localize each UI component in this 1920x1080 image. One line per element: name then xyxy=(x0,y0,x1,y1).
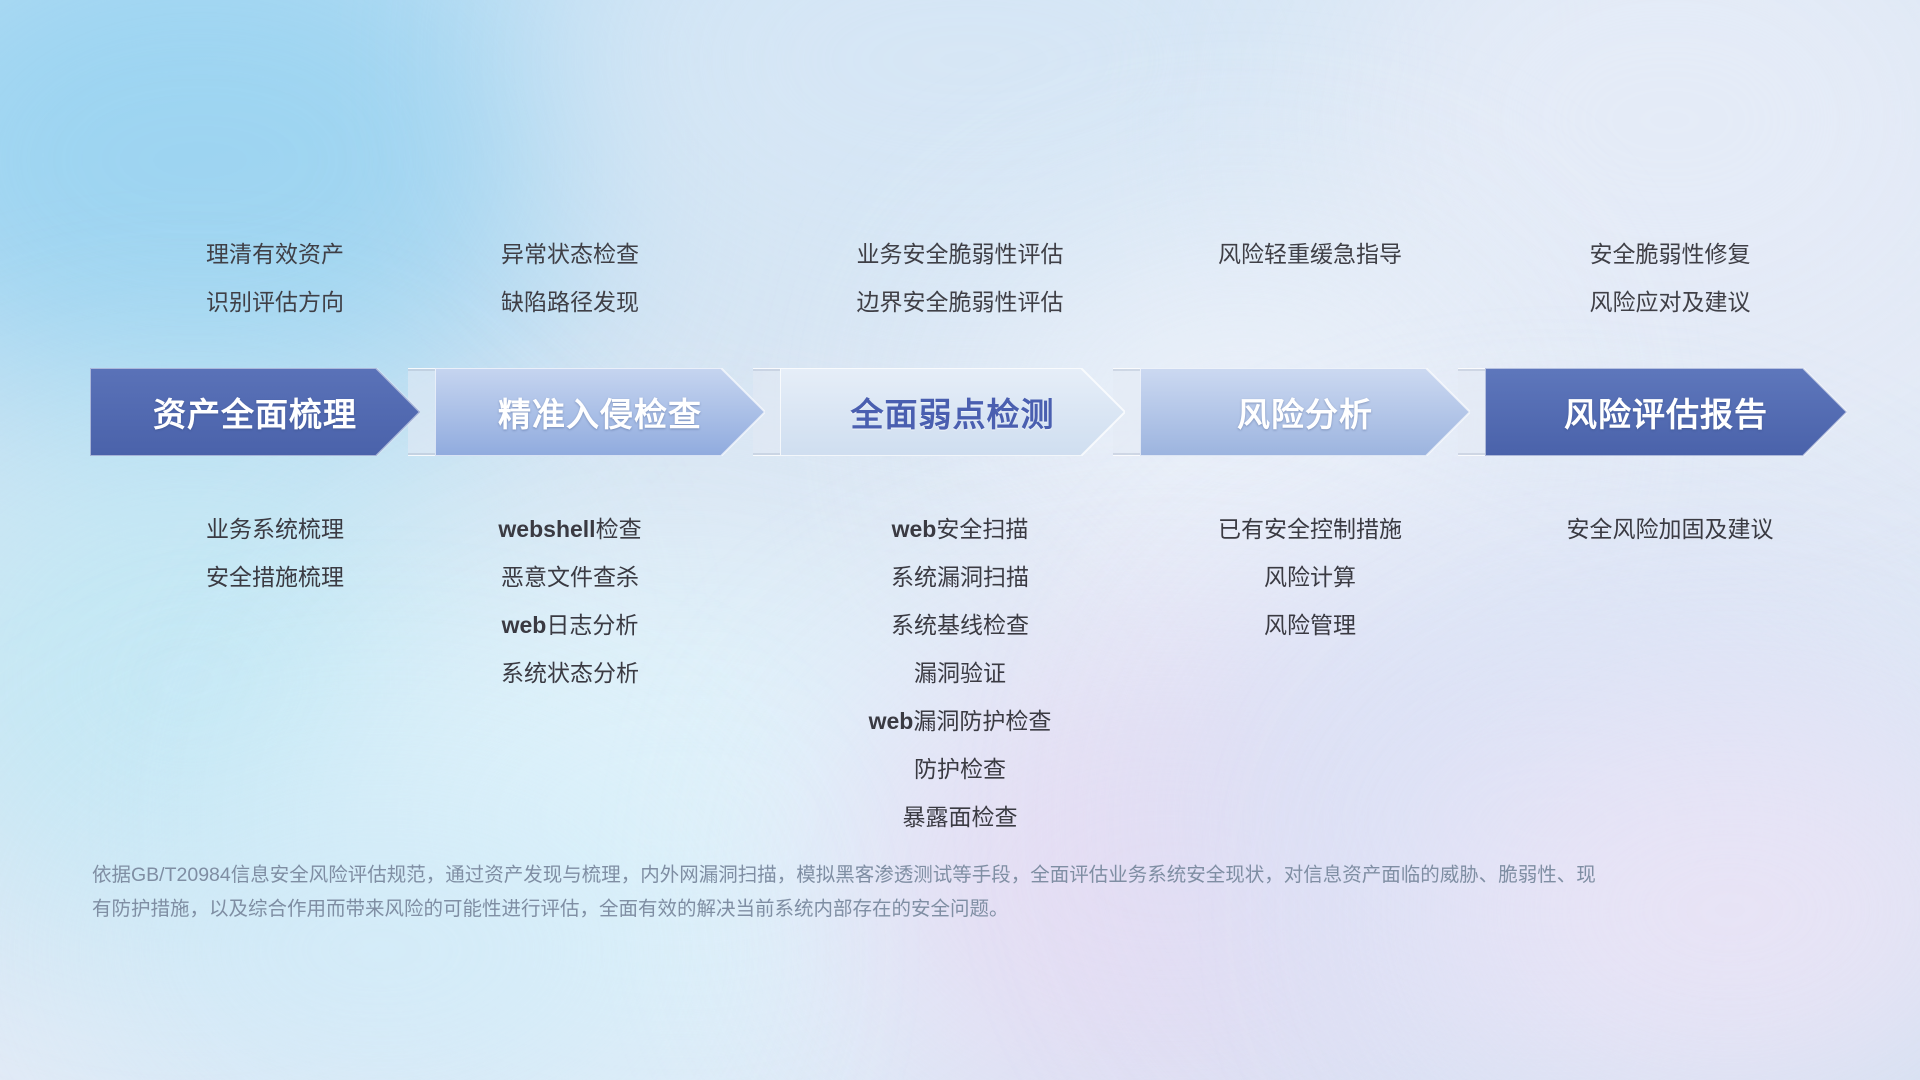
list-item: 系统漏洞扫描 xyxy=(770,553,1150,601)
stage-2-bottom-list: webshell检查 恶意文件查杀 web日志分析 系统状态分析 xyxy=(400,505,740,697)
footer-description: 依据GB/T20984信息安全风险评估规范，通过资产发现与梳理，内外网漏洞扫描，… xyxy=(92,858,1612,926)
list-item: 防护检查 xyxy=(770,745,1150,793)
list-item: 暴露面检查 xyxy=(770,793,1150,841)
stage-4-top-item: 风险轻重缓急指导 xyxy=(1110,230,1510,278)
list-item: 漏洞验证 xyxy=(770,649,1150,697)
stage-3-label: 全面弱点检测 xyxy=(851,388,1055,436)
list-item: 恶意文件查杀 xyxy=(400,553,740,601)
stage-1-label: 资产全面梳理 xyxy=(153,388,357,436)
stage-5-label: 风险评估报告 xyxy=(1564,388,1768,436)
list-item-cn: 安全措施梳理 xyxy=(206,564,344,590)
stage-4-chevron[interactable]: 风险分析 xyxy=(1140,368,1470,456)
list-item-en: webshell xyxy=(498,516,595,542)
stage-2-top-item: 异常状态检查 xyxy=(400,230,740,278)
process-stage-band: 资产全面梳理 精准入侵检查 xyxy=(90,368,1847,456)
list-item-cn: 风险计算 xyxy=(1264,564,1356,590)
list-item-cn: 系统漏洞扫描 xyxy=(891,564,1029,590)
stage-3-top-item: 业务安全脆弱性评估 xyxy=(770,230,1150,278)
list-item-cn: 检查 xyxy=(596,516,642,542)
stage-4-label: 风险分析 xyxy=(1237,388,1373,436)
list-item-cn: 业务系统梳理 xyxy=(206,516,344,542)
stage-5-top-item: 安全脆弱性修复 xyxy=(1480,230,1860,278)
list-item: 系统状态分析 xyxy=(400,649,740,697)
list-item-cn: 系统基线检查 xyxy=(891,612,1029,638)
list-item-cn: 日志分析 xyxy=(546,612,638,638)
list-item-en: web xyxy=(892,516,937,542)
list-item-cn: 安全风险加固及建议 xyxy=(1567,516,1774,542)
list-item: 系统基线检查 xyxy=(770,601,1150,649)
list-item: webshell检查 xyxy=(400,505,740,553)
list-item-cn: 已有安全控制措施 xyxy=(1218,516,1402,542)
list-item-cn: 漏洞防护检查 xyxy=(913,708,1051,734)
list-item-en: web xyxy=(502,612,547,638)
list-item-cn: 暴露面检查 xyxy=(903,804,1018,830)
list-item-cn: 恶意文件查杀 xyxy=(501,564,639,590)
stage-4-top-list: 风险轻重缓急指导 xyxy=(1110,230,1510,278)
list-item: web日志分析 xyxy=(400,601,740,649)
list-item-cn: 系统状态分析 xyxy=(501,660,639,686)
list-item-cn: 漏洞验证 xyxy=(914,660,1006,686)
list-item: web安全扫描 xyxy=(770,505,1150,553)
list-item: 安全风险加固及建议 xyxy=(1470,505,1870,553)
list-item-cn: 风险管理 xyxy=(1264,612,1356,638)
stage-3-chevron[interactable]: 全面弱点检测 xyxy=(780,368,1125,456)
stage-2-top-item: 缺陷路径发现 xyxy=(400,278,740,326)
stage-5-bottom-list: 安全风险加固及建议 xyxy=(1470,505,1870,553)
stage-3-bottom-list: web安全扫描 系统漏洞扫描 系统基线检查 漏洞验证 web漏洞防护检查 防护检… xyxy=(770,505,1150,841)
stage-2-label: 精准入侵检查 xyxy=(498,388,702,436)
stage-2-top-list: 异常状态检查 缺陷路径发现 xyxy=(400,230,740,326)
stage-2-chevron[interactable]: 精准入侵检查 xyxy=(435,368,765,456)
stage-1-chevron[interactable]: 资产全面梳理 xyxy=(90,368,420,456)
stage-5-top-item: 风险应对及建议 xyxy=(1480,278,1860,326)
list-item-cn: 安全扫描 xyxy=(936,516,1028,542)
list-item: web漏洞防护检查 xyxy=(770,697,1150,745)
stage-3-top-list: 业务安全脆弱性评估 边界安全脆弱性评估 xyxy=(770,230,1150,326)
list-item-en: web xyxy=(869,708,914,734)
stage-3-top-item: 边界安全脆弱性评估 xyxy=(770,278,1150,326)
stage-5-top-list: 安全脆弱性修复 风险应对及建议 xyxy=(1480,230,1860,326)
list-item: 风险计算 xyxy=(1110,553,1510,601)
list-item: 风险管理 xyxy=(1110,601,1510,649)
stage-4-bottom-list: 已有安全控制措施 风险计算 风险管理 xyxy=(1110,505,1510,649)
list-item-cn: 防护检查 xyxy=(914,756,1006,782)
stage-5-chevron[interactable]: 风险评估报告 xyxy=(1485,368,1847,456)
process-diagram: 理清有效资产 识别评估方向 异常状态检查 缺陷路径发现 业务安全脆弱性评估 边界… xyxy=(0,0,1920,1080)
list-item: 已有安全控制措施 xyxy=(1110,505,1510,553)
